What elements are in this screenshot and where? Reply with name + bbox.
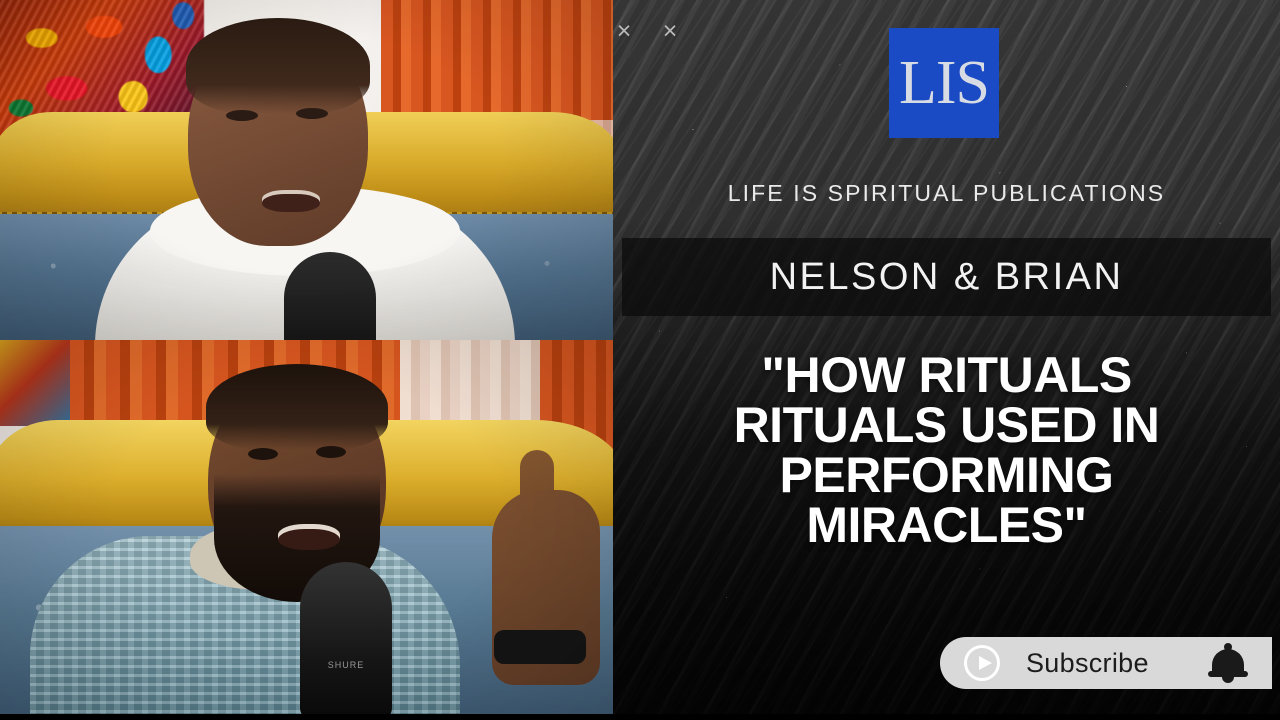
- top-speaker-eye-left: [226, 110, 258, 121]
- close-icon-1[interactable]: ×: [613, 18, 637, 44]
- bottom-speaker-eye-left: [248, 448, 278, 460]
- subscribe-label: Subscribe: [1026, 648, 1149, 679]
- title-line-2: RITUALS USED IN: [629, 400, 1264, 450]
- bottom-letterbox-bar: [0, 714, 1280, 720]
- hosts-banner: NELSON & BRIAN: [622, 238, 1271, 316]
- bottom-wall-artwork: [0, 340, 70, 426]
- top-microphone-icon: [284, 252, 376, 340]
- hosts-banner-text: NELSON & BRIAN: [770, 256, 1124, 299]
- top-frame-scene: [0, 0, 613, 340]
- thumbnail-canvas: SHURE × × LIS LIFE IS SPIRITUAL PUBLICAT…: [0, 0, 1280, 720]
- title-line-3: PERFORMING: [629, 450, 1264, 500]
- notification-bell-icon[interactable]: [1208, 645, 1248, 683]
- lis-logo: LIS: [889, 28, 999, 138]
- title-line-4: MIRACLES": [629, 500, 1264, 550]
- top-speaker-eye-right: [296, 108, 328, 119]
- video-frame-bottom[interactable]: SHURE: [0, 340, 613, 720]
- top-speaker-hair: [186, 18, 370, 114]
- title-line-1: "HOW RITUALS: [629, 350, 1264, 400]
- bottom-frame-scene: SHURE: [0, 340, 613, 720]
- bottom-speaker-wristwatch: [494, 630, 586, 664]
- publisher-name: LIFE IS SPIRITUAL PUBLICATIONS: [613, 180, 1280, 207]
- play-circle-icon: [964, 645, 1000, 681]
- bottom-speaker-eye-right: [316, 446, 346, 458]
- close-marks-row: × ×: [613, 18, 733, 54]
- subscribe-button[interactable]: Subscribe: [940, 637, 1272, 689]
- microphone-brand-label: SHURE: [316, 660, 376, 672]
- bottom-speaker-hair: [206, 364, 388, 450]
- video-frame-top[interactable]: [0, 0, 613, 340]
- video-frames-column: SHURE: [0, 0, 613, 720]
- close-icon-2[interactable]: ×: [657, 18, 683, 44]
- poster-panel: × × LIS LIFE IS SPIRITUAL PUBLICATIONS N…: [613, 0, 1280, 720]
- episode-title: "HOW RITUALS RITUALS USED IN PERFORMING …: [629, 350, 1264, 550]
- bottom-speaker-mouth: [278, 524, 340, 550]
- bottom-microphone-icon: [300, 562, 392, 720]
- top-speaker-mouth: [262, 190, 320, 212]
- lis-logo-text: LIS: [899, 52, 989, 114]
